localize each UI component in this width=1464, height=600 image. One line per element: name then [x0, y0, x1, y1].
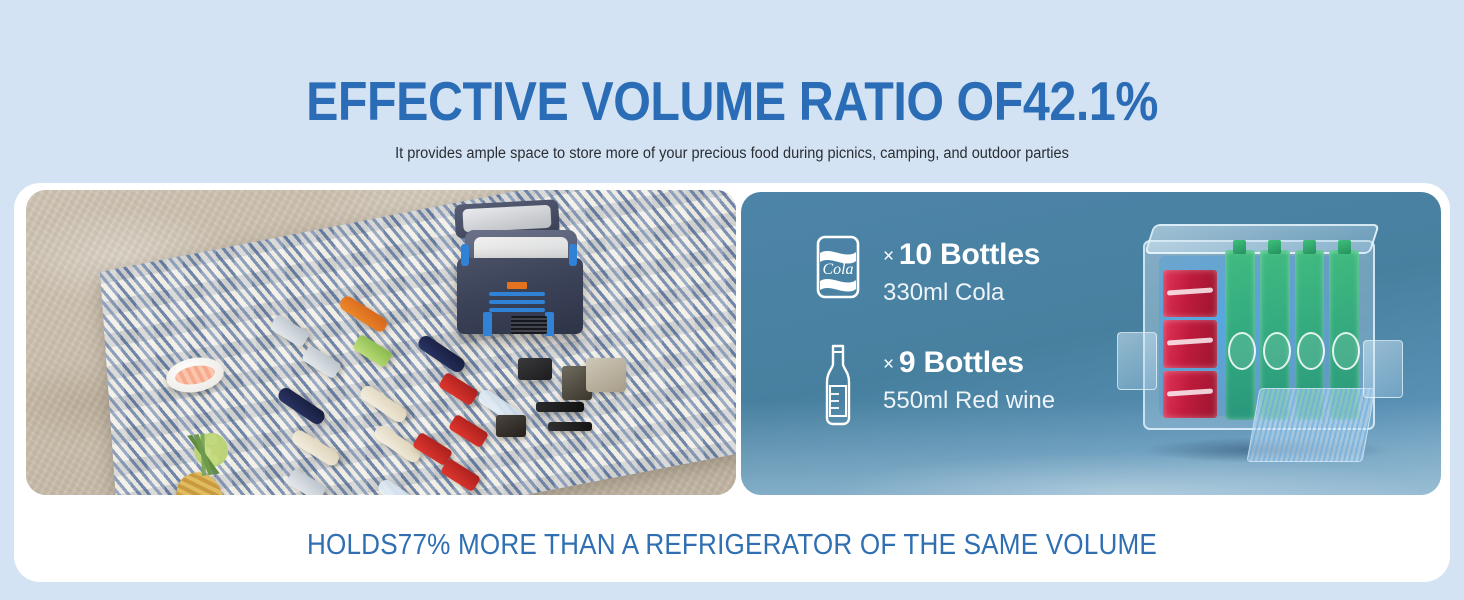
page-title: EFFECTIVE VOLUME RATIO OF42.1%: [88, 72, 1376, 130]
cooler-strap: [489, 292, 545, 296]
content-card: Cola ×10 Bottles 330ml Cola: [14, 183, 1450, 582]
cooler-strap: [489, 300, 545, 304]
spec-count-wine: ×9 Bottles: [883, 346, 1055, 382]
spec-count-label: 10 Bottles: [899, 238, 1040, 271]
beer-bottle: [1225, 250, 1255, 420]
product-banner: EFFECTIVE VOLUME RATIO OF42.1% It provid…: [0, 0, 1464, 600]
tripod: [536, 402, 584, 412]
cola-can-stack: [1163, 270, 1217, 418]
spec-item-wine: ×9 Bottles 550ml Red wine: [815, 342, 1105, 433]
wine-bottle-icon: [815, 342, 861, 433]
cooler-badge: [507, 282, 527, 289]
capacity-spec-list: Cola ×10 Bottles 330ml Cola: [815, 234, 1105, 467]
wallet: [496, 415, 526, 437]
compressor-unit: [1246, 388, 1375, 462]
spec-detail-wine: 550ml Red wine: [883, 386, 1055, 416]
cola-can: [1163, 320, 1217, 367]
cooler-side-handle: [1117, 332, 1157, 390]
spec-count-label: 9 Bottles: [899, 346, 1024, 379]
spec-text-wine: ×9 Bottles 550ml Red wine: [883, 342, 1055, 416]
multiplier-symbol: ×: [883, 246, 894, 267]
cooler-side-handle: [1363, 340, 1403, 398]
cola-can: [1163, 270, 1217, 317]
multiplier-symbol: ×: [883, 354, 894, 375]
page-subtitle: It provides ample space to store more of…: [44, 144, 1420, 164]
capacity-spec-panel: Cola ×10 Bottles 330ml Cola: [741, 192, 1441, 495]
cola-can-icon: Cola: [815, 234, 861, 305]
xray-cooler-render: [1113, 212, 1413, 477]
spec-detail-cola: 330ml Cola: [883, 278, 1040, 308]
footer-tagline: HOLDS77% MORE THAN A REFRIGERATOR OF THE…: [86, 528, 1378, 562]
portable-cooler: [449, 200, 599, 340]
cooler-strap: [483, 312, 492, 336]
camera-gear: [518, 358, 552, 380]
cup: [586, 358, 626, 392]
spec-text-cola: ×10 Bottles 330ml Cola: [883, 234, 1040, 308]
banner-header: EFFECTIVE VOLUME RATIO OF42.1% It provid…: [0, 0, 1464, 183]
cooler-handle: [569, 244, 577, 266]
tool: [548, 422, 592, 431]
spec-count-cola: ×10 Bottles: [883, 238, 1040, 274]
beach-picnic-photo: [26, 190, 736, 495]
cooler-handle: [461, 244, 469, 266]
cola-can: [1163, 371, 1217, 418]
svg-text:Cola: Cola: [822, 261, 853, 278]
cooler-vent: [511, 316, 547, 334]
cooler-strap: [489, 308, 545, 312]
spec-item-cola: Cola ×10 Bottles 330ml Cola: [815, 234, 1105, 308]
